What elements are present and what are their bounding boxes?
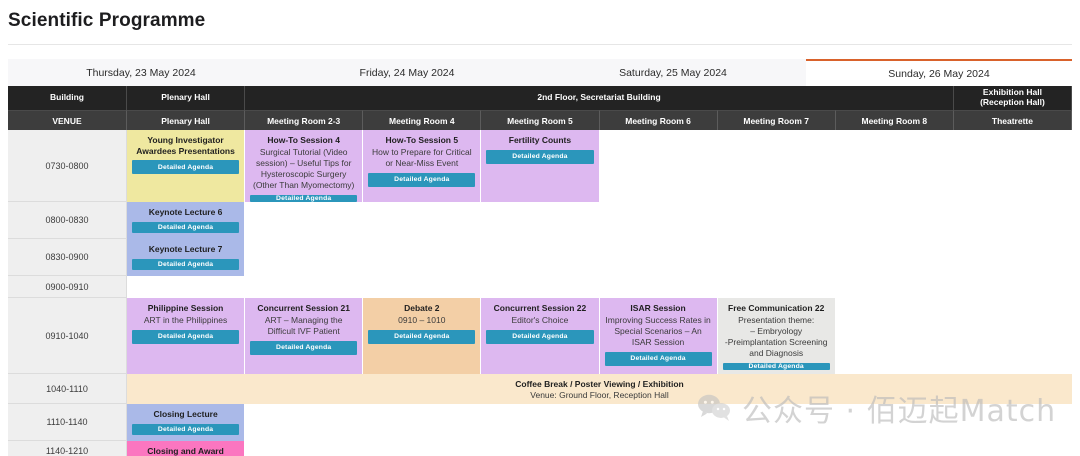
detailed-agenda-button[interactable]: Detailed Agenda (250, 341, 357, 355)
session-subtitle: How to Prepare for Critical or Near-Miss… (368, 147, 475, 169)
session-subtitle-line: – Embryology (723, 326, 830, 337)
building-header-cell-4: Exhibition Hall(Reception Hall) (954, 86, 1072, 110)
building-header-line: (Reception Hall) (980, 98, 1045, 108)
time-slot-label: 0900-0910 (8, 276, 127, 298)
session-title: Free Communication 22 (728, 303, 824, 314)
header-row-building: BuildingPlenary Hall2nd Floor, Secretari… (8, 86, 1072, 110)
empty-cell (481, 202, 599, 239)
day-tab-bar: Thursday, 23 May 2024Friday, 24 May 2024… (8, 59, 1072, 86)
session-subtitle-line: How to Prepare for Critical or Near-Miss… (368, 147, 475, 169)
empty-cell (954, 130, 1072, 202)
programme-row: 0900-0910 (8, 276, 1072, 298)
session-title: ISAR Session (630, 303, 685, 314)
detailed-agenda-button[interactable]: Detailed Agenda (368, 330, 475, 344)
session-subtitle: 0910 – 1010 (398, 315, 445, 326)
building-header-line: 2nd Floor, Secretariat Building (537, 93, 660, 103)
building-header-cell-2: Plenary Hall (127, 86, 245, 110)
venue-header-8: Meeting Room 8 (836, 110, 954, 130)
empty-cell (718, 202, 836, 239)
empty-cell (363, 404, 481, 441)
detailed-agenda-button[interactable]: Detailed Agenda (250, 195, 357, 202)
empty-cell (363, 441, 481, 456)
empty-cell (363, 239, 481, 276)
detailed-agenda-button[interactable]: Detailed Agenda (132, 160, 239, 174)
programme-row: 0730-0800Young Investigator Awardees Pre… (8, 130, 1072, 202)
detailed-agenda-button[interactable]: Detailed Agenda (132, 222, 239, 233)
session-subtitle: Editor's Choice (511, 315, 568, 326)
building-header-cell-1: Building (8, 86, 127, 110)
programme-page: Scientific Programme Thursday, 23 May 20… (0, 0, 1080, 456)
time-slot-label: 0730-0800 (8, 130, 127, 202)
time-slot-label: 1110-1140 (8, 404, 127, 441)
programme-row: 0800-0830Keynote Lecture 6Detailed Agend… (8, 202, 1072, 239)
programme-row: 1110-1140Closing LectureDetailed Agenda (8, 404, 1072, 441)
session-subtitle-line: Editor's Choice (511, 315, 568, 326)
detailed-agenda-button[interactable]: Detailed Agenda (723, 363, 830, 370)
empty-cell (718, 276, 836, 298)
session-title: Young Investigator Awardees Presentation… (132, 135, 239, 156)
session-cell[interactable]: Fertility CountsDetailed Agenda (481, 130, 599, 202)
session-cell[interactable]: How-To Session 4Surgical Tutorial (Video… (245, 130, 363, 202)
session-subtitle: Improving Success Rates in Special Scena… (605, 315, 712, 348)
session-subtitle: Presentation theme:– Embryology-Preimpla… (723, 315, 830, 359)
break-title: Coffee Break / Poster Viewing / Exhibiti… (515, 379, 683, 389)
venue-header-5: Meeting Room 5 (481, 110, 599, 130)
empty-cell (600, 404, 718, 441)
empty-cell (954, 298, 1072, 374)
empty-cell (363, 202, 481, 239)
session-cell[interactable]: Philippine SessionART in the Philippines… (127, 298, 245, 374)
empty-cell (600, 239, 718, 276)
empty-cell (836, 130, 954, 202)
empty-cell (600, 202, 718, 239)
break-venue: Venue: Ground Floor, Reception Hall (530, 390, 668, 400)
building-header-cell-3: 2nd Floor, Secretariat Building (245, 86, 954, 110)
session-subtitle-line: -Preimplantation Screening and Diagnosis (723, 337, 830, 359)
session-title: Closing and Award Ceremony (132, 446, 239, 456)
empty-cell (836, 239, 954, 276)
session-subtitle: Surgical Tutorial (Video session) – Usef… (250, 147, 357, 191)
session-cell[interactable]: Concurrent Session 22Editor's ChoiceDeta… (481, 298, 599, 374)
session-title: Philippine Session (148, 303, 224, 314)
empty-cell (245, 239, 363, 276)
empty-cell (836, 404, 954, 441)
session-cell[interactable]: Free Communication 22Presentation theme:… (718, 298, 836, 374)
session-cell[interactable]: Keynote Lecture 7Detailed Agenda (127, 239, 245, 276)
empty-cell (245, 202, 363, 239)
venue-header-7: Meeting Room 7 (718, 110, 836, 130)
venue-header-1: VENUE (8, 110, 127, 130)
programme-row: 0830-0900Keynote Lecture 7Detailed Agend… (8, 239, 1072, 276)
empty-cell (363, 276, 481, 298)
session-title: Keynote Lecture 6 (149, 207, 223, 218)
day-tab-2[interactable]: Friday, 24 May 2024 (274, 59, 540, 86)
day-tab-1[interactable]: Thursday, 23 May 2024 (8, 59, 274, 86)
detailed-agenda-button[interactable]: Detailed Agenda (368, 173, 475, 187)
empty-cell (954, 276, 1072, 298)
detailed-agenda-button[interactable]: Detailed Agenda (605, 352, 712, 366)
session-title: Debate 2 (404, 303, 439, 314)
session-subtitle: ART in the Philippines (144, 315, 227, 326)
venue-header-2: Plenary Hall (127, 110, 245, 130)
empty-cell (836, 441, 954, 456)
break-cell: Coffee Break / Poster Viewing / Exhibiti… (127, 374, 1072, 404)
title-divider (8, 44, 1072, 45)
detailed-agenda-button[interactable]: Detailed Agenda (132, 330, 239, 344)
programme-row: 0910-1040Philippine SessionART in the Ph… (8, 298, 1072, 374)
detailed-agenda-button[interactable]: Detailed Agenda (486, 150, 593, 164)
detailed-agenda-button[interactable]: Detailed Agenda (486, 330, 593, 344)
session-title: How-To Session 5 (386, 135, 459, 146)
empty-cell (836, 276, 954, 298)
time-slot-label: 0800-0830 (8, 202, 127, 239)
session-cell[interactable]: ISAR SessionImproving Success Rates in S… (600, 298, 718, 374)
venue-header-4: Meeting Room 4 (363, 110, 481, 130)
empty-cell (481, 441, 599, 456)
session-cell[interactable]: Young Investigator Awardees Presentation… (127, 130, 245, 202)
time-slot-label: 1040-1110 (8, 374, 127, 404)
empty-cell (718, 404, 836, 441)
empty-cell (954, 202, 1072, 239)
empty-cell (127, 276, 245, 298)
session-subtitle-line: ART – Managing the Difficult IVF Patient (250, 315, 357, 337)
session-title: Concurrent Session 21 (257, 303, 350, 314)
session-subtitle-line: Presentation theme: (723, 315, 830, 326)
empty-cell (245, 276, 363, 298)
empty-cell (245, 441, 363, 456)
time-slot-label: 1140-1210 (8, 441, 127, 456)
venue-header-9: Theatrette (954, 110, 1072, 130)
session-subtitle: ART – Managing the Difficult IVF Patient (250, 315, 357, 337)
session-cell[interactable]: Keynote Lecture 6Detailed Agenda (127, 202, 245, 239)
venue-header-6: Meeting Room 6 (600, 110, 718, 130)
empty-cell (718, 441, 836, 456)
session-cell[interactable]: Concurrent Session 21ART – Managing the … (245, 298, 363, 374)
page-title: Scientific Programme (8, 10, 205, 32)
empty-cell (481, 239, 599, 276)
empty-cell (718, 130, 836, 202)
time-slot-label: 0830-0900 (8, 239, 127, 276)
empty-cell (600, 130, 718, 202)
empty-cell (954, 239, 1072, 276)
session-title: Closing Lecture (153, 409, 217, 420)
session-cell[interactable]: Closing and Award Ceremony (127, 441, 245, 456)
session-cell[interactable]: Closing LectureDetailed Agenda (127, 404, 245, 441)
programme-row: 1140-1210Closing and Award Ceremony (8, 441, 1072, 456)
session-subtitle-line: 0910 – 1010 (398, 315, 445, 326)
empty-cell (481, 276, 599, 298)
header-row-venue: VENUEPlenary HallMeeting Room 2-3Meeting… (8, 110, 1072, 130)
session-cell[interactable]: How-To Session 5How to Prepare for Criti… (363, 130, 481, 202)
empty-cell (836, 202, 954, 239)
building-header-line: Building (50, 93, 84, 103)
detailed-agenda-button[interactable]: Detailed Agenda (132, 424, 239, 435)
programme-row: 1040-1110Coffee Break / Poster Viewing /… (8, 374, 1072, 404)
session-title: Keynote Lecture 7 (149, 244, 223, 255)
venue-header-3: Meeting Room 2-3 (245, 110, 363, 130)
empty-cell (600, 441, 718, 456)
session-title: Fertility Counts (509, 135, 571, 146)
empty-cell (600, 276, 718, 298)
building-header-line: Plenary Hall (161, 93, 210, 103)
empty-cell (245, 404, 363, 441)
session-subtitle-line: Surgical Tutorial (Video session) – Usef… (250, 147, 357, 191)
session-subtitle-line: ART in the Philippines (144, 315, 227, 326)
empty-cell (954, 441, 1072, 456)
programme-grid: BuildingPlenary Hall2nd Floor, Secretari… (8, 86, 1072, 456)
empty-cell (718, 239, 836, 276)
empty-cell (481, 404, 599, 441)
day-tab-3[interactable]: Saturday, 25 May 2024 (540, 59, 806, 86)
time-slot-label: 0910-1040 (8, 298, 127, 374)
session-subtitle-line: Improving Success Rates in Special Scena… (605, 315, 712, 348)
empty-cell (836, 298, 954, 374)
detailed-agenda-button[interactable]: Detailed Agenda (132, 259, 239, 270)
session-title: Concurrent Session 22 (494, 303, 587, 314)
day-tab-4[interactable]: Sunday, 26 May 2024 (806, 59, 1072, 86)
session-cell[interactable]: Debate 20910 – 1010Detailed Agenda (363, 298, 481, 374)
session-title: How-To Session 4 (267, 135, 340, 146)
empty-cell (954, 404, 1072, 441)
